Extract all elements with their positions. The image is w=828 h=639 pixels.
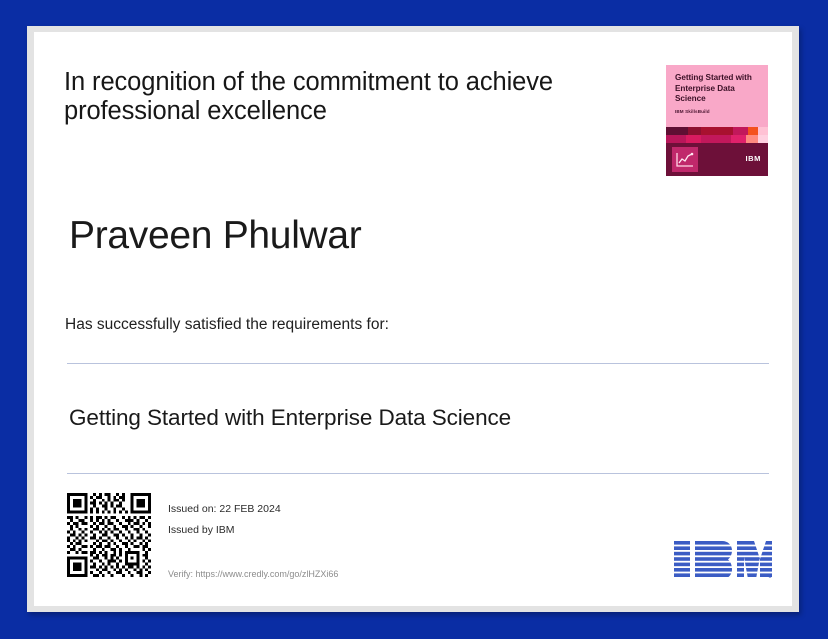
qr-code[interactable] bbox=[67, 493, 151, 577]
course-title: Getting Started with Enterprise Data Sci… bbox=[69, 405, 511, 431]
badge-title: Getting Started with Enterprise Data Sci… bbox=[675, 73, 763, 105]
badge-color-bars-row2 bbox=[666, 135, 768, 143]
divider-bottom bbox=[67, 473, 769, 474]
credential-badge-image: Getting Started with Enterprise Data Sci… bbox=[666, 65, 768, 176]
page-title: In recognition of the commitment to achi… bbox=[64, 68, 564, 126]
line-chart-icon bbox=[672, 147, 698, 172]
verify-link[interactable]: Verify: https://www.credly.com/go/zlHZXi… bbox=[168, 569, 338, 579]
divider-top bbox=[67, 363, 769, 364]
badge-ibm-wordmark: IBM bbox=[745, 154, 761, 163]
badge-subtitle: IBM SkillsBuild bbox=[675, 109, 710, 115]
badge-footer: IBM bbox=[666, 143, 768, 176]
certificate-card: In recognition of the commitment to achi… bbox=[34, 32, 792, 606]
issued-by-text: Issued by IBM bbox=[168, 520, 281, 541]
recipient-name: Praveen Phulwar bbox=[69, 214, 362, 258]
requirement-text: Has successfully satisfied the requireme… bbox=[65, 316, 389, 334]
ibm-logo bbox=[674, 541, 772, 579]
issue-details: Issued on: 22 FEB 2024 Issued by IBM bbox=[168, 499, 281, 541]
issued-on-text: Issued on: 22 FEB 2024 bbox=[168, 499, 281, 520]
certificate-outer-frame: In recognition of the commitment to achi… bbox=[0, 0, 828, 639]
certificate-inset-frame: In recognition of the commitment to achi… bbox=[27, 26, 799, 612]
